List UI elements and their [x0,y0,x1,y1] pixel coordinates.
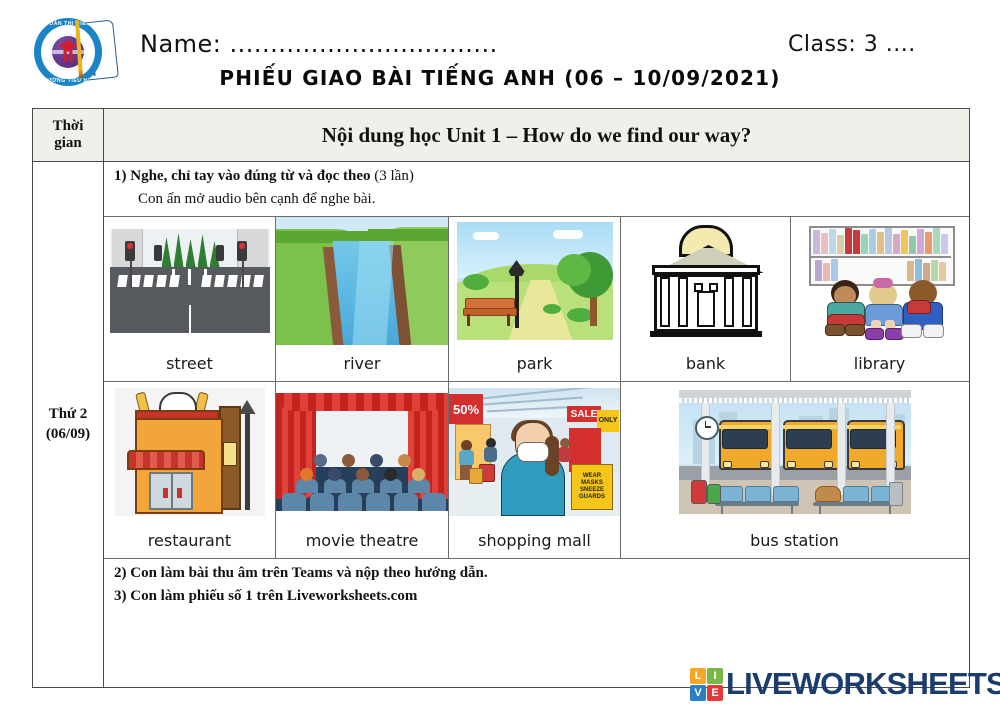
task-1-note: (3 lần) [374,168,414,184]
logo-tile-i: I [707,668,723,684]
movie-theatre-image [276,382,448,522]
vocab-cell-movie-theatre[interactable]: movie theatre [276,382,449,558]
task-1-subtext: Con ấn mở audio bên cạnh để nghe bài. [104,185,969,216]
vocab-label-library: library [791,345,968,381]
header-time-line2: gian [53,135,84,152]
header-time-line1: Thời [53,118,84,135]
page-header: ĐOÀN THỊ ĐIỂM TRƯỜNG TIỂU HỌC Name: ....… [0,0,1000,102]
logo-tile-v: V [690,685,706,701]
bus-station-image [621,382,968,522]
vocab-cell-shopping-mall[interactable]: 50% SALE ONLY [449,382,621,558]
bank-image [621,217,790,345]
table-body-row: Thứ 2 (06/09) 1) Nghe, chỉ tay vào đúng … [33,162,969,687]
vocab-cell-restaurant[interactable]: restaurant [104,382,276,558]
day-cell: Thứ 2 (06/09) [33,162,104,687]
task-3: 3) Con làm phiếu số 1 trên Liveworksheet… [104,582,969,613]
park-image [449,217,620,345]
document-title: PHIẾU GIAO BÀI TIẾNG ANH (06 – 10/09/202… [0,66,1000,90]
logo-tile-e: E [707,685,723,701]
notice-line-2: MASKS [579,480,605,487]
header-time-column: Thời gian [33,109,104,161]
seal-top-text: ĐOÀN THỊ ĐIỂM [34,21,102,27]
task-1: 1) Nghe, chỉ tay vào đúng từ và đọc theo… [104,162,969,185]
restaurant-image [104,382,275,522]
vocab-row-1: street [104,217,969,382]
task-2-text: 2) Con làm bài thu âm trên Teams và nộp … [114,565,488,581]
day-date: (06/09) [46,425,90,445]
mall-discount-sign: 50% [449,394,483,424]
content-cell: 1) Nghe, chỉ tay vào đúng từ và đọc theo… [104,162,969,687]
vocab-label-restaurant: restaurant [104,522,275,558]
notice-line-1: WEAR [579,473,605,480]
mall-notice-board: WEAR MASKS SNEEZE GUARDS [571,464,613,510]
vocab-label-movie-theatre: movie theatre [276,522,448,558]
vocab-cell-library[interactable]: library [791,217,968,381]
assignment-table: Thời gian Nội dung học Unit 1 – How do w… [32,108,970,688]
vocab-label-park: park [449,345,620,381]
table-header-row: Thời gian Nội dung học Unit 1 – How do w… [33,109,969,162]
vocab-cell-river[interactable]: river [276,217,449,381]
river-image [276,217,448,345]
vocab-label-bank: bank [621,345,790,381]
class-field[interactable]: Class: 3 .... [788,32,916,57]
name-field[interactable]: Name: ................................. [140,30,498,58]
day-label: Thứ 2 [46,405,90,425]
vocabulary-picture-grid: street [104,216,969,559]
liveworksheets-logo-tiles: L I V E [690,668,722,700]
liveworksheets-logo[interactable]: L I V E LIVEWORKSHEETS [690,666,1000,702]
vocab-cell-bank[interactable]: bank [621,217,791,381]
shopping-mall-image: 50% SALE ONLY [449,382,620,522]
liveworksheets-wordmark: LIVEWORKSHEETS [726,666,1000,702]
header-content-column: Nội dung học Unit 1 – How do we find our… [104,109,969,161]
task-2: 2) Con làm bài thu âm trên Teams và nộp … [104,559,969,582]
vocab-row-2: restaurant [104,382,969,558]
vocab-cell-street[interactable]: street [104,217,276,381]
logo-tile-l: L [690,668,706,684]
mall-sale-sign: SALE [567,406,601,422]
vocab-label-bus-station: bus station [621,522,968,558]
vocab-label-river: river [276,345,448,381]
library-image [791,217,968,345]
street-image [104,217,275,345]
vocab-cell-bus-station[interactable]: bus station [621,382,968,558]
task-1-text: 1) Nghe, chỉ tay vào đúng từ và đọc theo [114,168,371,184]
vocab-label-shopping-mall: shopping mall [449,522,620,558]
vocab-label-street: street [104,345,275,381]
notice-line-4: GUARDS [579,494,605,501]
notice-line-3: SNEEZE [579,487,605,494]
vocab-cell-park[interactable]: park [449,217,621,381]
task-3-text: 3) Con làm phiếu số 1 trên Liveworksheet… [114,588,417,604]
